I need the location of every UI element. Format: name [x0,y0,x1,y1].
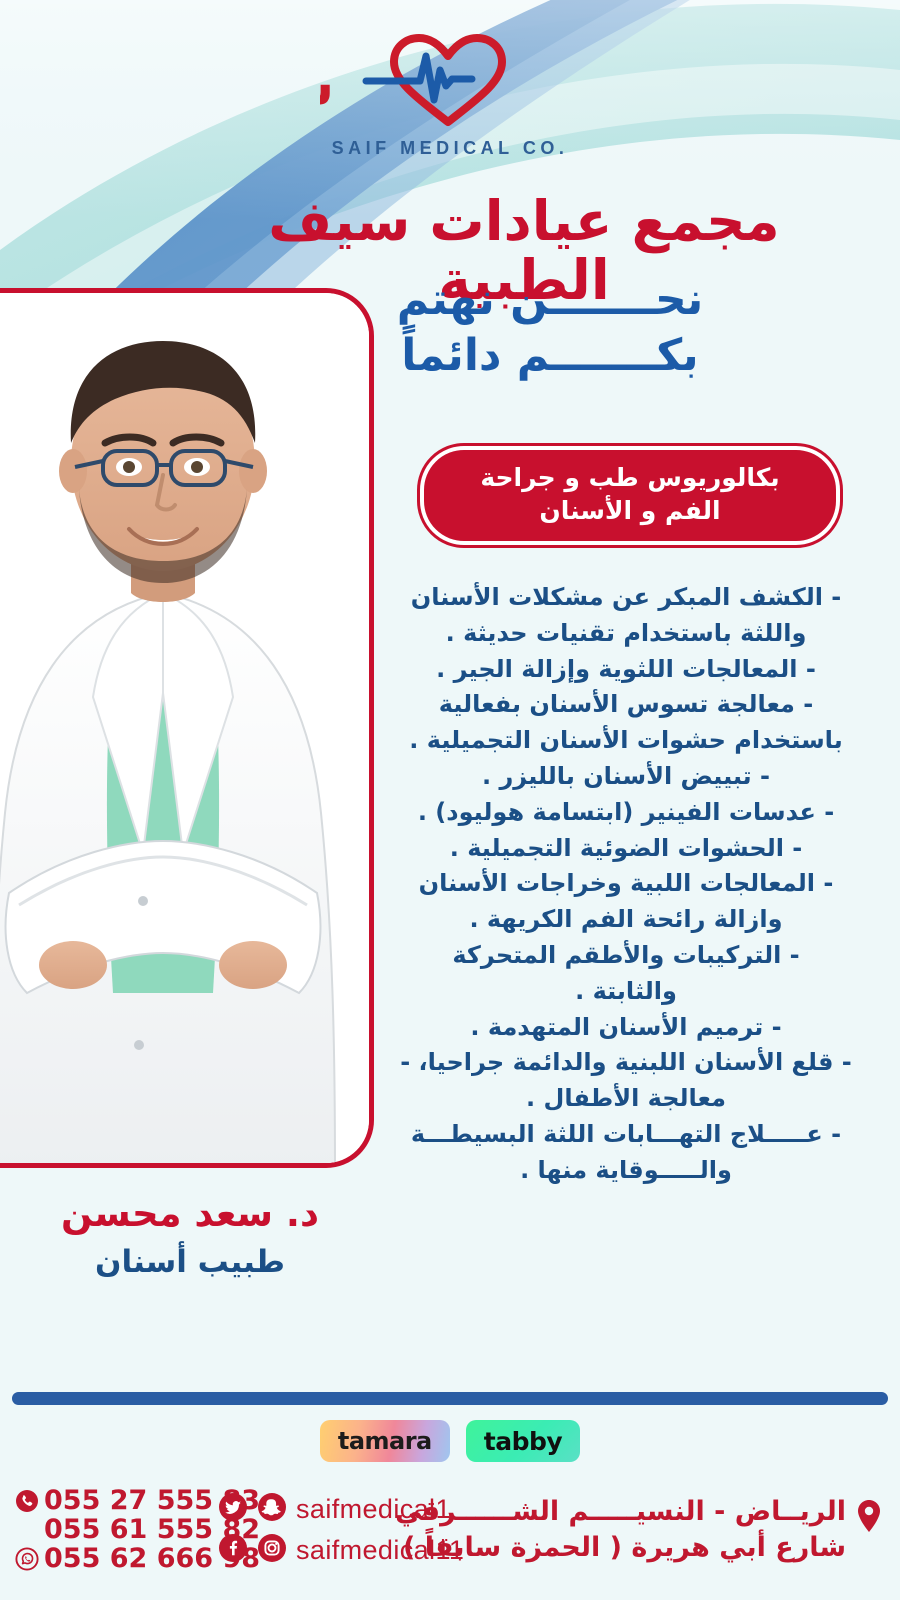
facebook-icon[interactable] [218,1533,248,1567]
degree-badge: بكالوريوس طب و جراحة الفم و الأسنان [420,446,840,545]
list-item: - المعالجات اللبية وخراجات الأسنان [376,866,876,901]
svg-text:سيف: سيف [320,57,334,117]
list-item: - تبييض الأسنان بالليزر . [376,759,876,794]
address-text: الريــاض - النسيـــــم الشــــــرقي شارع… [395,1494,846,1565]
whatsapp-icon [14,1547,40,1571]
list-item: - عدسات الفينير (ابتسامة هوليود) . [376,795,876,830]
degree-line-1: بكالوريوس طب و جراحة [442,462,818,495]
tagline: نحـــــــن نهتم بكـــــــم دائماً [230,272,870,385]
list-item: - عـــــلاج التهـــابات اللثة البسيطـــة [376,1117,876,1152]
list-item: وازالة رائحة الفم الكريهة . [376,902,876,937]
logo-mark: SAIF سيف [320,26,580,134]
list-item: - معالجة تسوس الأسنان بفعالية [376,687,876,722]
footer-divider [12,1392,888,1405]
list-item: معالجة الأطفال . [376,1081,876,1116]
list-item: - الكشف المبكر عن مشكلات الأسنان [376,580,876,615]
phone-icon [14,1489,40,1513]
heart-ecg-logo-icon: SAIF سيف [320,26,580,134]
location-pin-icon [854,1494,884,1546]
list-item: - المعالجات اللثوية وإزالة الجير . [376,652,876,687]
list-item: - الحشوات الضوئية التجميلية . [376,831,876,866]
doctor-portrait-illustration [0,293,374,1168]
services-list: - الكشف المبكر عن مشكلات الأسنان واللثة … [376,580,876,1189]
address-line-1: الريــاض - النسيـــــم الشــــــرقي [395,1494,846,1530]
twitter-icon[interactable] [218,1492,248,1526]
address-line-2: شارع أبي هريرة ( الحمزة سابقاً ) [395,1530,846,1566]
tagline-line-2: بكـــــــم دائماً [230,328,870,384]
list-item: - قلع الأسنان اللبنية والدائمة جراحيا، - [376,1045,876,1080]
company-name-en: SAIF MEDICAL CO. [332,138,569,159]
snapchat-icon[interactable] [257,1492,287,1526]
footer: 055 27 555 83 055 61 555 82 055 62 666 9… [0,1482,900,1600]
doctor-portrait [0,293,369,1163]
list-item: - ترميم الأسنان المتهدمة . [376,1010,876,1045]
doctor-specialty: طبيب أسنان [0,1244,380,1280]
list-item: باستخدام حشوات الأسنان التجميلية . [376,723,876,758]
tabby-logo: tabby [466,1420,580,1462]
list-item: والـــــوقاية منها . [376,1153,876,1188]
tamara-logo: tamara [320,1420,450,1462]
tagline-line-1: نحـــــــن نهتم [230,272,870,328]
doctor-name: د. سعد محسن [0,1192,380,1235]
brand-logo: SAIF سيف SAIF MEDICAL CO. [0,26,900,159]
list-item: والثابتة . [376,974,876,1009]
doctor-photo-card [0,288,374,1168]
list-item: - التركيبات والأطقم المتحركة [376,938,876,973]
payment-methods: tabby tamara [0,1420,900,1462]
instagram-icon[interactable] [257,1533,287,1567]
list-item: واللثة باستخدام تقنيات حديثة . [376,616,876,651]
svg-text:SAIF: SAIF [320,26,329,31]
degree-line-2: الفم و الأسنان [442,495,818,528]
clinic-address[interactable]: الريــاض - النسيـــــم الشــــــرقي شارع… [395,1494,884,1565]
